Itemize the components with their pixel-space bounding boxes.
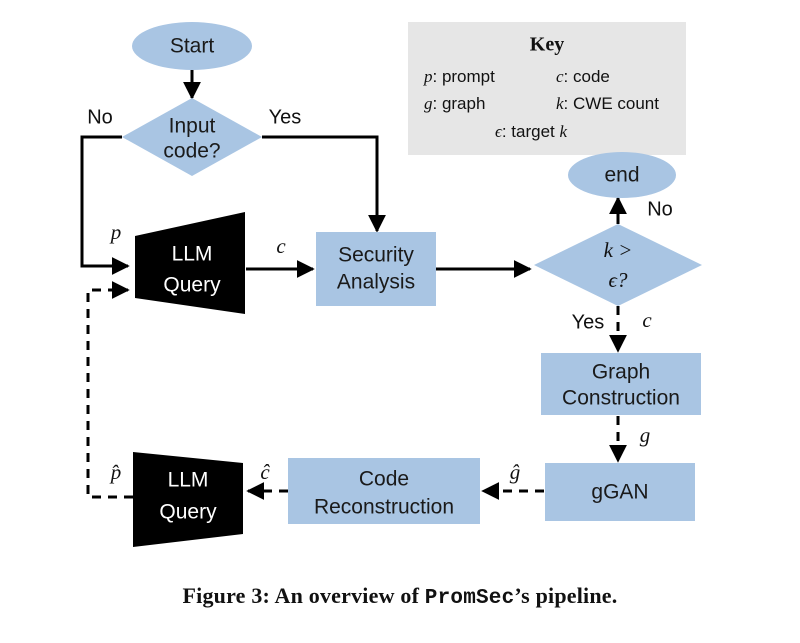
node-llm-query-top: LLM Query xyxy=(135,212,245,314)
edge-label-code-chat: ĉ xyxy=(260,460,270,484)
k-greater-epsilon-diamond xyxy=(534,224,702,306)
caption-suffix: ’s pipeline. xyxy=(514,583,617,608)
key-symbol-p: p xyxy=(423,67,433,86)
figure-container: Key p: prompt c: code g: graph k: CWE co… xyxy=(0,0,800,643)
key-entry-g: g: graph xyxy=(424,94,485,114)
security-analysis-label-line1: Security xyxy=(338,244,414,267)
node-security-analysis: Security Analysis xyxy=(316,232,436,306)
node-llm-query-bottom: LLM Query xyxy=(133,452,243,547)
key-entry-epsilon: ϵ: target k xyxy=(495,122,568,142)
key-entry-k: k: CWE count xyxy=(556,94,659,114)
key-meaning-p: : prompt xyxy=(433,67,496,86)
node-start: Start xyxy=(132,22,252,70)
node-k-greater-epsilon: k > ϵ? xyxy=(534,224,702,306)
key-meaning-k: : CWE count xyxy=(564,94,660,113)
input-code-label-line2: code? xyxy=(163,140,220,163)
key-entry-p: p: prompt xyxy=(423,67,495,87)
edge-label-decision-no: No xyxy=(647,198,673,220)
edge-label-input-no: No xyxy=(87,106,113,128)
node-input-code: Input code? xyxy=(122,98,262,176)
edge-label-input-yes: Yes xyxy=(269,106,302,128)
flowchart-diagram: Key p: prompt c: code g: graph k: CWE co… xyxy=(0,0,800,643)
key-title: Key xyxy=(530,34,564,56)
key-symbol-g: g xyxy=(424,94,433,113)
code-reconstruction-label-line2: Reconstruction xyxy=(314,496,454,519)
figure-caption: Figure 3: An overview of PromSec’s pipel… xyxy=(0,583,800,610)
key-meaning-c: : code xyxy=(564,67,610,86)
graph-construction-label-line1: Graph xyxy=(592,361,650,384)
caption-product-name: PromSec xyxy=(425,587,515,610)
llm-query-top-label-line2: Query xyxy=(163,274,221,297)
k-greater-epsilon-label-line2: ϵ? xyxy=(609,268,628,292)
security-analysis-label-line2: Analysis xyxy=(337,271,415,294)
caption-prefix: Figure 3: An overview of xyxy=(183,583,425,608)
key-meaning-epsilon: : target xyxy=(502,122,560,141)
llm-query-bottom-trapezoid xyxy=(133,452,243,547)
edge-label-graph-g: g xyxy=(640,423,651,447)
edge-label-code-c: c xyxy=(276,234,286,258)
key-meaning-g: : graph xyxy=(433,94,486,113)
graph-construction-label-line2: Construction xyxy=(562,387,680,410)
edge-label-prompt-p: p xyxy=(109,220,122,244)
edge-label-ggan-ghat: ĝ xyxy=(510,460,521,484)
node-code-reconstruction: Code Reconstruction xyxy=(288,458,480,524)
node-end: end xyxy=(568,152,676,198)
key-legend: Key p: prompt c: code g: graph k: CWE co… xyxy=(408,22,686,155)
start-label: Start xyxy=(170,35,215,58)
k-greater-epsilon-label-line1: k > xyxy=(604,238,633,262)
llm-query-top-label-line1: LLM xyxy=(172,243,213,266)
node-ggan: gGAN xyxy=(545,463,695,521)
key-symbol-k-trailing: k xyxy=(560,122,568,141)
key-entry-c: c: code xyxy=(556,67,610,87)
edge-input-no-to-llm xyxy=(82,137,128,266)
llm-query-bottom-label-line1: LLM xyxy=(168,469,209,492)
edge-input-yes-to-security xyxy=(262,137,377,231)
llm-query-bottom-label-line2: Query xyxy=(159,501,217,524)
node-graph-construction: Graph Construction xyxy=(541,353,701,415)
end-label: end xyxy=(604,164,639,187)
edge-label-prompt-phat: p̂ xyxy=(109,460,122,484)
input-code-label-line1: Input xyxy=(169,115,216,138)
ggan-label: gGAN xyxy=(591,481,648,504)
code-reconstruction-label-line1: Code xyxy=(359,468,409,491)
edge-label-decision-yes: Yes xyxy=(572,311,605,333)
edge-label-decision-c: c xyxy=(642,308,652,332)
